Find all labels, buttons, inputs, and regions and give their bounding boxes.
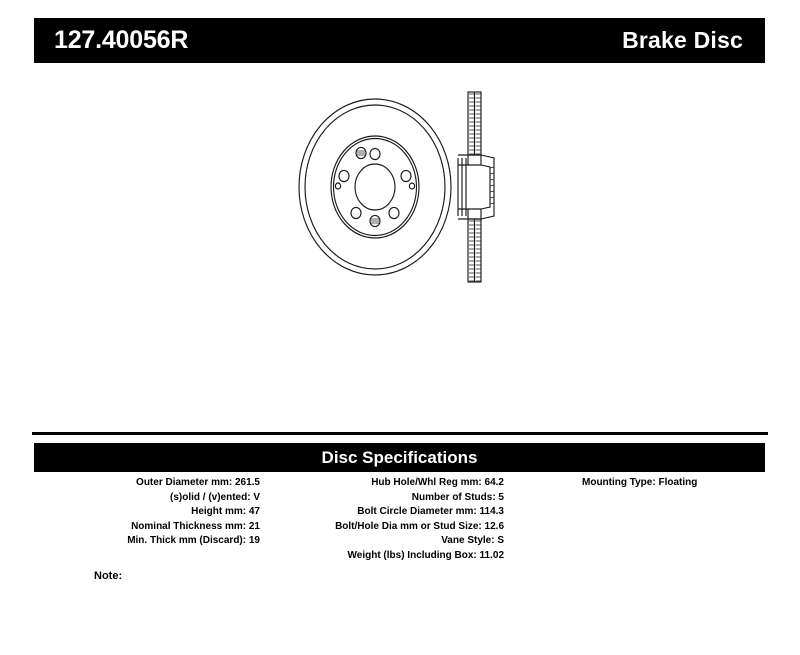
brake-rotor-cross-section-view (458, 92, 494, 282)
spec-item: Nominal Thickness mm: 21 (34, 520, 260, 535)
stud-hole (370, 148, 380, 159)
spec-column-right: Mounting Type: Floating (544, 476, 765, 491)
disc-specifications-banner: Disc Specifications (34, 443, 765, 472)
brake-rotor-face-view (299, 99, 451, 275)
product-technical-drawing (270, 80, 530, 295)
spec-column-middle: Hub Hole/Whl Reg mm: 64.2 Number of Stud… (274, 476, 504, 563)
product-header-banner: 127.40056R Brake Disc (34, 18, 765, 63)
spec-item: Bolt/Hole Dia mm or Stud Size: 12.6 (274, 520, 504, 535)
threaded-hole-hatch (357, 151, 379, 223)
stud-hole (389, 207, 399, 218)
stud-hole (351, 207, 361, 218)
alignment-pin-hole (409, 183, 414, 189)
hat-wall-hatching (490, 167, 494, 204)
spec-item: (s)olid / (v)ented: V (34, 491, 260, 506)
alignment-pin-hole (335, 183, 340, 189)
spec-item: Min. Thick mm (Discard): 19 (34, 534, 260, 549)
spec-item: Vane Style: S (274, 534, 504, 549)
spec-column-left: Outer Diameter mm: 261.5 (s)olid / (v)en… (34, 476, 260, 549)
spec-item: Weight (lbs) Including Box: 11.02 (274, 549, 504, 564)
spec-item: Hub Hole/Whl Reg mm: 64.2 (274, 476, 504, 491)
note-row: Note: (34, 570, 334, 582)
part-number: 127.40056R (54, 28, 188, 53)
section-divider-rule (32, 432, 768, 435)
spec-item: Mounting Type: Floating (582, 476, 765, 491)
spec-item: Outer Diameter mm: 261.5 (34, 476, 260, 491)
spec-item: Height mm: 47 (34, 505, 260, 520)
spec-item: Bolt Circle Diameter mm: 114.3 (274, 505, 504, 520)
note-label: Note: (94, 570, 122, 582)
stud-hole (401, 170, 411, 181)
stud-hole (339, 170, 349, 181)
product-type-label: Brake Disc (622, 29, 743, 52)
disc-specifications-title: Disc Specifications (322, 449, 478, 466)
spec-item: Number of Studs: 5 (274, 491, 504, 506)
